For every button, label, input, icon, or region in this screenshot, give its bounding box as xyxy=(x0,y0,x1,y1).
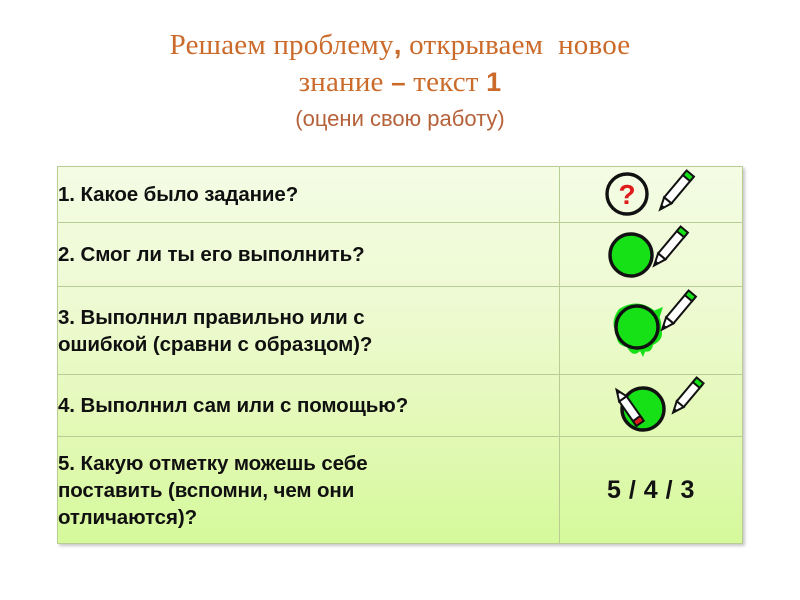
green-circle-two-pencils-icon[interactable] xyxy=(591,375,711,436)
title-line-1-part-a: Решаем проблему xyxy=(170,29,394,61)
question-text-3-line-1: 3. Выполнил правильно или с xyxy=(58,304,559,331)
icon-cell-4[interactable] xyxy=(560,375,743,437)
title-dash: – xyxy=(391,67,406,97)
table-body: 1. Какое было задание? ? xyxy=(58,167,743,544)
title-line-2-part-b: текст xyxy=(406,66,486,98)
title-line-2-part-a: знание xyxy=(299,66,391,98)
icon-cell-3[interactable] xyxy=(560,287,743,375)
question-text-5-line-3: отличаются)? xyxy=(58,504,559,531)
scribbled-green-circle-with-pencil-icon[interactable] xyxy=(591,287,711,374)
title-line-1-part-b: открываем новое xyxy=(402,29,631,61)
question-cell-4: 4. Выполнил сам или с помощью? xyxy=(58,375,560,437)
question-text-3-line-2: ошибкой (сравни с образцом)? xyxy=(58,331,559,358)
table-row: 2. Смог ли ты его выполнить? xyxy=(58,223,743,287)
self-assessment-table: 1. Какое было задание? ? xyxy=(57,166,743,544)
title-comma: , xyxy=(394,29,402,60)
slide-subtitle: (оцени свою работу) xyxy=(0,104,800,134)
slide-title-block: Решаем проблему, открываем новое знание … xyxy=(0,26,800,134)
table-row: 1. Какое было задание? ? xyxy=(58,167,743,223)
title-line-2: знание – текст 1 xyxy=(0,64,800,101)
question-cell-2: 2. Смог ли ты его выполнить? xyxy=(58,223,560,287)
table-row: 5. Какую отметку можешь себе поставить (… xyxy=(58,437,743,544)
question-cell-3: 3. Выполнил правильно или с ошибкой (сра… xyxy=(58,287,560,375)
icon-cell-1[interactable]: ? xyxy=(560,167,743,223)
table-row: 3. Выполнил правильно или с ошибкой (сра… xyxy=(58,287,743,375)
table-row: 4. Выполнил сам или с помощью? xyxy=(58,375,743,437)
icon-cell-2[interactable] xyxy=(560,223,743,287)
filled-green-circle-with-pencil-icon[interactable] xyxy=(591,223,711,286)
question-text-4: 4. Выполнил сам или с помощью? xyxy=(58,392,559,419)
mark-options-text: 5 / 4 / 3 xyxy=(607,476,695,504)
svg-text:?: ? xyxy=(618,179,635,210)
question-text-1: 1. Какое было задание? xyxy=(58,181,559,208)
question-circle-with-pencil-icon[interactable]: ? xyxy=(591,167,711,222)
question-text-2: 2. Смог ли ты его выполнить? xyxy=(58,241,559,268)
mark-cell-5[interactable]: 5 / 4 / 3 xyxy=(560,437,743,544)
question-text-5-line-2: поставить (вспомни, чем они xyxy=(58,477,559,504)
question-text-5-line-1: 5. Какую отметку можешь себе xyxy=(58,450,559,477)
title-text-number: 1 xyxy=(486,67,501,97)
question-cell-1: 1. Какое было задание? xyxy=(58,167,560,223)
title-line-1: Решаем проблему, открываем новое xyxy=(0,26,800,64)
question-cell-5: 5. Какую отметку можешь себе поставить (… xyxy=(58,437,560,544)
